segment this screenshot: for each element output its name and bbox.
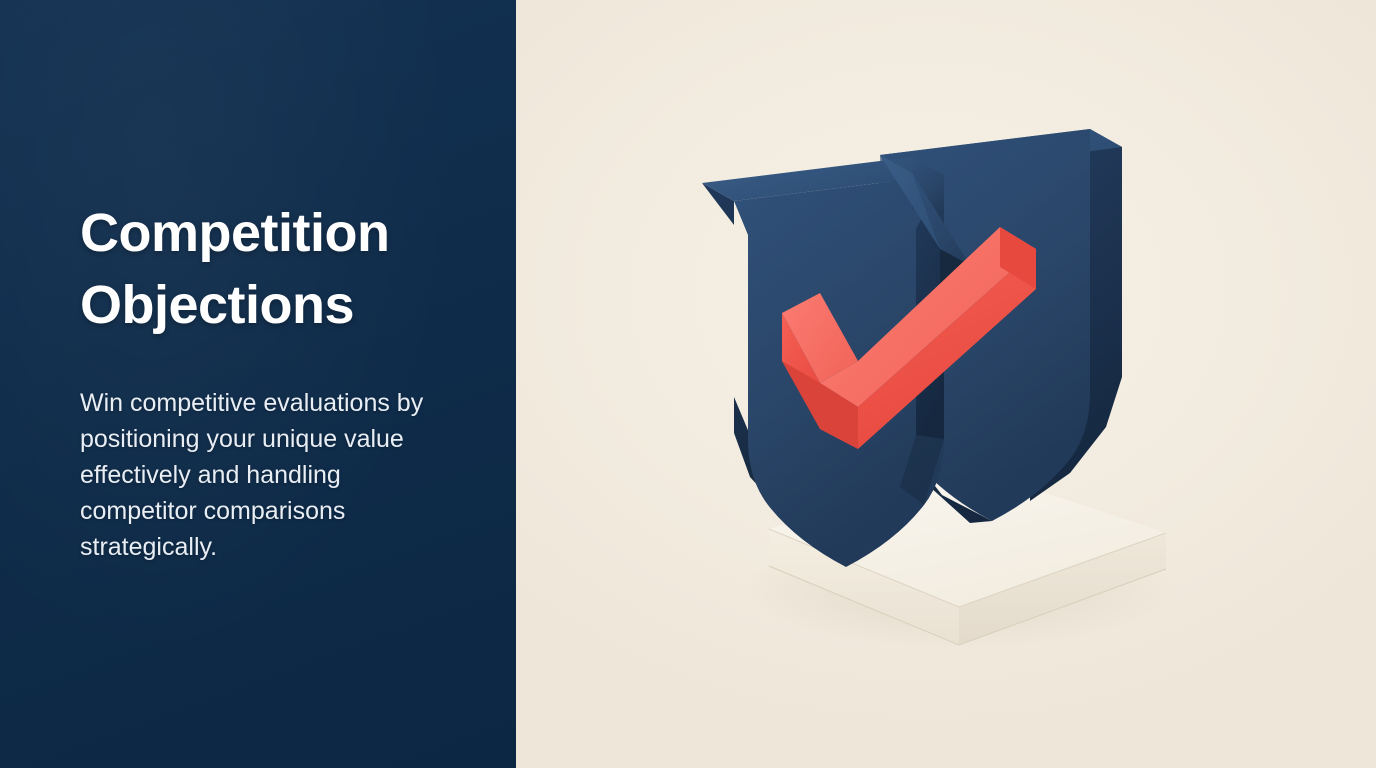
slide-root: CompetitionObjections Win competitive ev… [0, 0, 1376, 768]
left-panel-content: CompetitionObjections Win competitive ev… [80, 197, 446, 565]
page-title-line-1: Competition [80, 203, 389, 263]
page-title-line-2: Objections [80, 275, 354, 335]
shield-check-illustration [674, 77, 1234, 697]
page-subtitle: Win competitive evaluations by positioni… [80, 385, 446, 565]
left-text-panel: CompetitionObjections Win competitive ev… [0, 0, 516, 768]
page-title: CompetitionObjections [80, 197, 446, 341]
right-illustration-panel [516, 0, 1376, 768]
